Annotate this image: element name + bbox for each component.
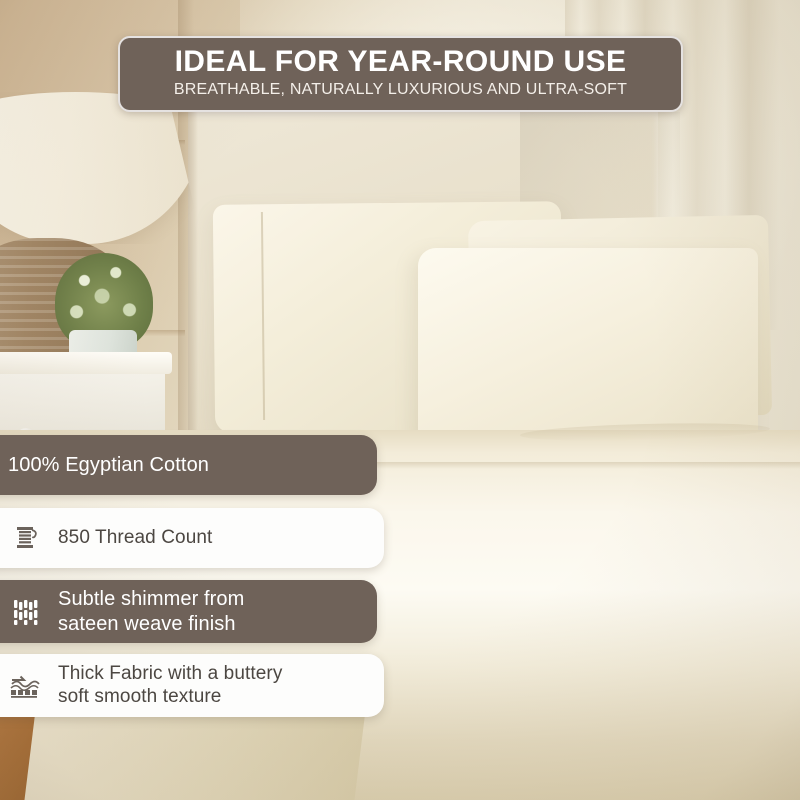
feature-label: 100% Egyptian Cotton	[8, 453, 209, 477]
woven-weave-icon	[8, 594, 44, 630]
header-title: IDEAL FOR YEAR-ROUND USE	[136, 47, 665, 78]
feature-label-line-1: Subtle shimmer from	[58, 587, 244, 611]
feature-badge-egyptian-cotton: 100% Egyptian Cotton	[0, 435, 377, 495]
feature-badge-thread-count: 850 Thread Count	[0, 508, 384, 568]
feature-label-line-2: soft smooth texture	[58, 686, 282, 709]
feature-label-line-2: sateen weave finish	[58, 612, 244, 636]
pillow-front	[418, 248, 758, 444]
product-marketing-image: IDEAL FOR YEAR-ROUND USE BREATHABLE, NAT…	[0, 0, 800, 800]
headboard-left-edge	[188, 112, 198, 442]
feature-badge-thick-fabric: Thick Fabric with a buttery soft smooth …	[0, 654, 384, 717]
feature-label-line-1: Thick Fabric with a buttery	[58, 663, 282, 686]
feature-label: 850 Thread Count	[58, 527, 212, 550]
header-subtitle: BREATHABLE, NATURALLY LUXURIOUS AND ULTR…	[136, 81, 665, 99]
nightstand-tabletop	[0, 352, 172, 374]
feature-label: Thick Fabric with a buttery soft smooth …	[58, 663, 282, 709]
feature-label: Subtle shimmer from sateen weave finish	[58, 587, 244, 635]
fabric-layers-icon	[8, 668, 44, 704]
header-banner: IDEAL FOR YEAR-ROUND USE BREATHABLE, NAT…	[118, 36, 683, 112]
thread-spool-icon	[8, 520, 44, 556]
feature-badge-sateen-weave: Subtle shimmer from sateen weave finish	[0, 580, 377, 643]
